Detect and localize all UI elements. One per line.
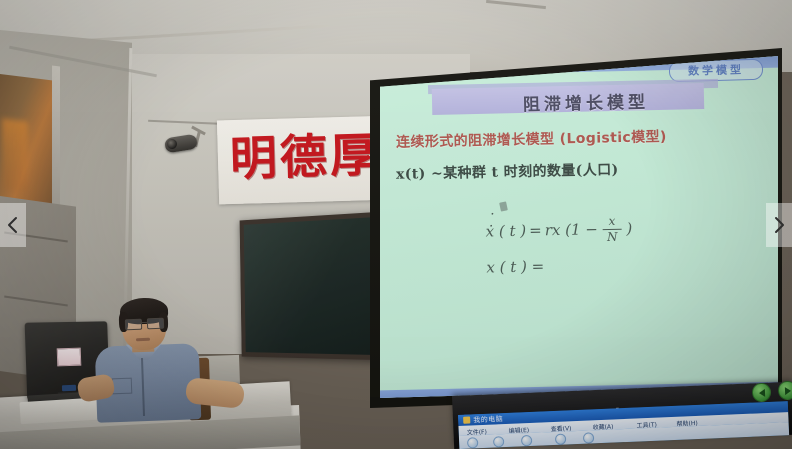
glasses-left-lens	[125, 319, 142, 331]
equation1-rhs-open: rx (1 −	[545, 220, 599, 239]
next-image-button[interactable]	[766, 203, 792, 247]
slide-canvas: 数学模型 阻滞增长模型 连续形式的阻滞增长模型 (Logistic模型) x(t…	[380, 56, 778, 398]
window-app-icon	[463, 416, 470, 423]
slide-title: 阻滞增长模型	[476, 87, 696, 117]
forward-icon[interactable]	[493, 436, 504, 447]
equation1-rhs-close: )	[626, 220, 632, 238]
presenter-mouth	[136, 338, 150, 341]
slide-line-1: 连续形式的阻滞增长模型 (Logistic模型)	[396, 124, 756, 152]
wall-banner-text: 明德厚	[229, 130, 380, 186]
blackboard-sheen	[244, 217, 374, 355]
back-icon[interactable]	[467, 437, 478, 448]
equation1-fraction: x N	[603, 215, 622, 244]
search-icon[interactable]	[555, 433, 566, 444]
blackboard	[240, 212, 379, 360]
projection-screen: 数学模型 阻滞增长模型 连续形式的阻滞增长模型 (Logistic模型) x(t…	[380, 56, 778, 398]
equation-derivative: ẋ ( t ) = rx (1 − x N )	[485, 214, 632, 245]
chevron-right-icon	[784, 386, 790, 394]
door-light-glow	[2, 118, 28, 191]
fraction-numerator: x	[604, 215, 619, 228]
monitor-rear-badge	[62, 385, 76, 391]
wall-banner: 明德厚	[217, 116, 394, 205]
folders-icon[interactable]	[583, 432, 594, 443]
glasses-right-lens	[147, 318, 164, 330]
fraction-denominator: N	[603, 230, 622, 243]
presenter-shirt-pocket	[112, 378, 133, 395]
equation-solution: x ( t ) =	[486, 256, 633, 277]
up-icon[interactable]	[521, 435, 532, 446]
mouse-cursor	[499, 201, 508, 211]
chevron-left-icon	[758, 388, 764, 396]
slide-equations: ẋ ( t ) = rx (1 − x N ) x ( t ) =	[485, 214, 633, 276]
chevron-right-icon	[772, 215, 786, 235]
chevron-left-icon	[6, 215, 20, 235]
door-frame	[52, 66, 60, 217]
photo-viewer-stage: 明德厚 数学模型 阻滞增长模型 连续形式的阻滞增长模型 (Logistic模型)…	[0, 0, 792, 449]
equation1-lhs: ẋ ( t )	[486, 222, 527, 241]
monitor-asset-tag	[57, 348, 82, 367]
slide-badge-text: 数学模型	[674, 61, 758, 79]
previous-image-button[interactable]	[0, 203, 26, 247]
slide-line-2: x(t) ~某种群 t 时刻的数量(人口)	[396, 156, 756, 184]
equation1-equals: =	[529, 221, 542, 239]
glasses-bridge	[140, 322, 147, 324]
